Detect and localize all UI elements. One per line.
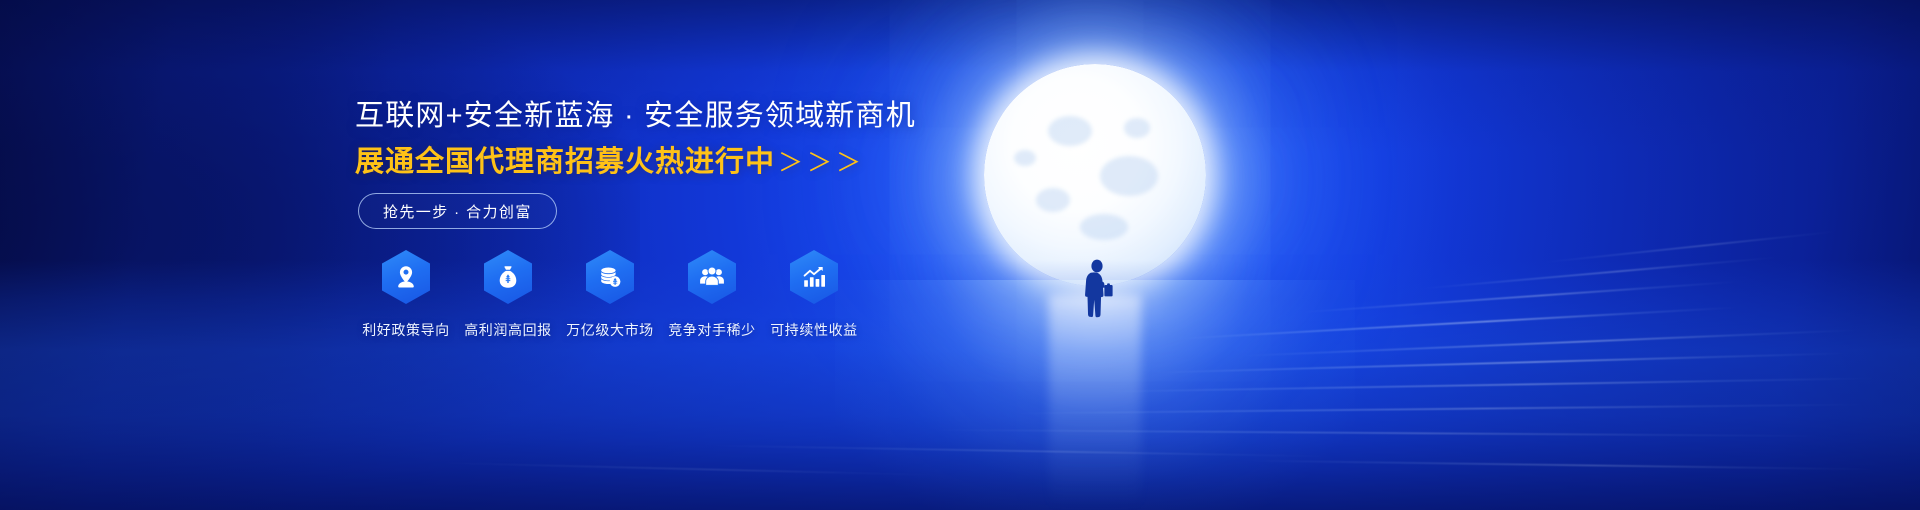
cta-button[interactable]: 抢先一步 · 合力创富 <box>358 193 557 229</box>
feature-icon-hexagon <box>688 250 736 304</box>
moon-crater <box>1080 214 1128 240</box>
feature-label: 万亿级大市场 <box>566 320 654 340</box>
feature-icon-hexagon <box>382 250 430 304</box>
moon-crater <box>1124 118 1150 138</box>
feature-label: 高利润高回报 <box>464 320 552 340</box>
feature-icon-hexagon <box>790 250 838 304</box>
bar-chart-growth-icon <box>801 264 827 290</box>
feature-item-market[interactable]: 万亿级大市场 <box>559 250 661 340</box>
feature-icon-hexagon <box>484 250 532 304</box>
moon-crater <box>1100 156 1158 196</box>
banner-content: 互联网+安全新蓝海 · 安全服务领域新商机 展通全国代理商招募火热进行中＞＞＞ … <box>355 0 1075 510</box>
businessman-silhouette-icon <box>1074 258 1122 328</box>
promo-subtitle: 展通全国代理商招募火热进行中＞＞＞ <box>355 142 865 183</box>
page-title: 互联网+安全新蓝海 · 安全服务领域新商机 <box>355 96 916 136</box>
feature-label: 竞争对手稀少 <box>668 320 756 340</box>
money-bag-yen-icon <box>495 264 521 290</box>
feature-label: 利好政策导向 <box>362 320 450 340</box>
feature-label: 可持续性收益 <box>770 320 858 340</box>
feature-item-competition[interactable]: 竞争对手稀少 <box>661 250 763 340</box>
feature-list: 利好政策导向 高利润高回报 <box>355 250 865 340</box>
feature-icon-hexagon <box>586 250 634 304</box>
feature-item-profit[interactable]: 高利润高回报 <box>457 250 559 340</box>
feature-item-sustainable[interactable]: 可持续性收益 <box>763 250 865 340</box>
chevron-right-icons: ＞＞＞ <box>775 149 865 177</box>
coin-stack-yen-icon <box>597 264 623 290</box>
promo-banner: 互联网+安全新蓝海 · 安全服务领域新商机 展通全国代理商招募火热进行中＞＞＞ … <box>0 0 1920 510</box>
people-group-icon <box>699 264 725 290</box>
feature-item-policy[interactable]: 利好政策导向 <box>355 250 457 340</box>
location-pin-person-icon <box>393 264 419 290</box>
promo-subtitle-text: 展通全国代理商招募火热进行中 <box>355 146 775 178</box>
